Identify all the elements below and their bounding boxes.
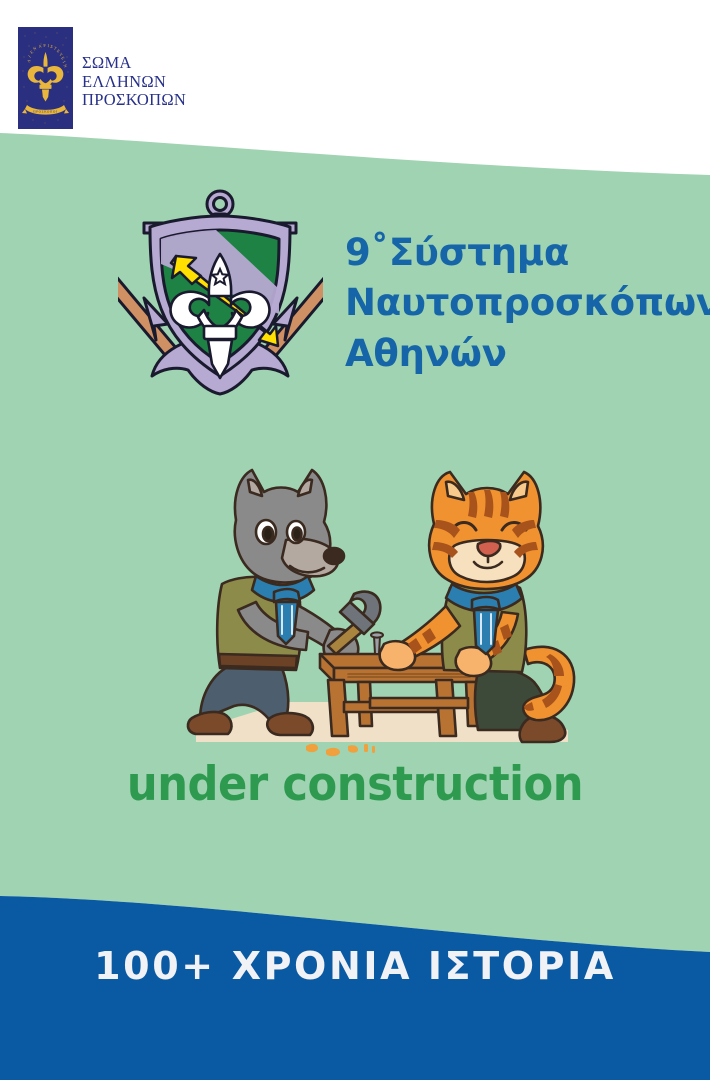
wolf-and-tiger-scouts-building-bench-illustration-icon: [178, 458, 582, 762]
title-line-1: 9˚Σύστημα: [345, 228, 710, 278]
organization-logo: Α Ι Ε Ν Α Ρ Ι Σ Τ Ε Υ Ε Ι Ν: [18, 27, 218, 129]
scout-fleur-de-lis-emblem-icon: Α Ι Ε Ν Α Ρ Ι Σ Τ Ε Υ Ε Ι Ν: [18, 27, 73, 129]
history-banner: 100+ΧΡΟΝΙΑ ΙΣΤΟΡΙΑ: [0, 944, 710, 988]
svg-text:ΠΡΟΣΚΟΠΟΙ: ΠΡΟΣΚΟΠΟΙ: [33, 110, 58, 114]
under-construction-label: under construction: [28, 757, 681, 812]
poster-page: Α Ι Ε Ν Α Ρ Ι Σ Τ Ε Υ Ε Ι Ν: [0, 0, 710, 1080]
sea-scout-anchor-shield-emblem-icon: [118, 186, 323, 411]
page-title: 9˚Σύστημα Ναυτοπροσκόπων Αθηνών: [345, 228, 710, 379]
history-banner-label: ΧΡΟΝΙΑ ΙΣΤΟΡΙΑ: [232, 944, 616, 988]
org-line-3: ΠΡΟΣΚΟΠΩΝ: [82, 91, 186, 110]
title-line-3: Αθηνών: [345, 329, 710, 379]
org-line-1: ΣΩΜΑ: [82, 54, 186, 73]
org-line-2: ΕΛΛΗΝΩΝ: [82, 73, 186, 92]
history-banner-count: 100+: [94, 944, 216, 988]
organization-logo-wordmark: ΣΩΜΑ ΕΛΛΗΝΩΝ ΠΡΟΣΚΟΠΩΝ: [82, 54, 186, 110]
title-line-2: Ναυτοπροσκόπων: [345, 278, 710, 328]
